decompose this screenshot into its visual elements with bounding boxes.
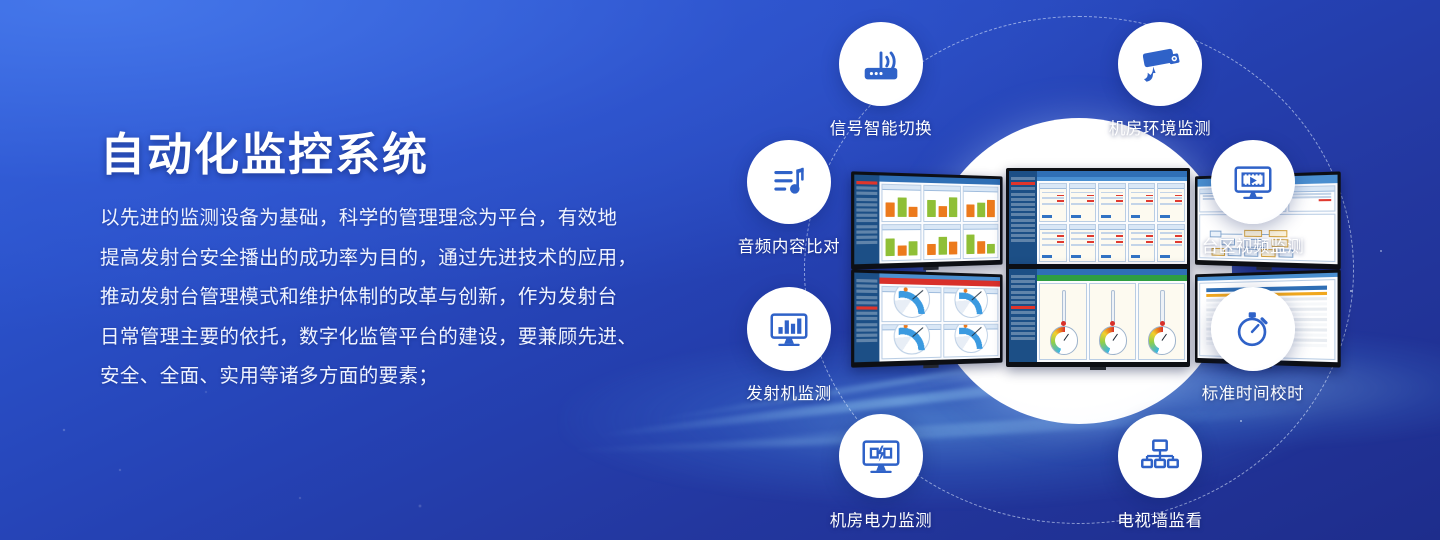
bar-chart-grid [880,182,1000,264]
feature-hub: 信号智能切换 机房环境监测 [700,0,1440,540]
hero-description: 以先进的监测设备为基础，科学的管理理念为平台，有效地 提高发射台安全播出的成功率… [100,203,700,393]
feature-node-room-power[interactable]: 机房电力监测 [818,414,944,531]
data-card-grid [1037,181,1187,264]
description-line: 日常管理主要的依托，数字化监管平台的建设，要兼顾先进、 [100,322,700,354]
monitor-stand [923,267,938,271]
monitor-bottom-center [1006,266,1190,367]
monitor-stand [923,365,938,369]
feature-node-tv-wall[interactable]: 电视墙监看 [1097,414,1223,531]
feature-node-transmitter[interactable]: 发射机监测 [726,287,852,404]
music-note-lines-icon [747,140,831,224]
feature-label: 机房电力监测 [818,507,944,531]
monitor-stand [1256,267,1271,271]
feature-label: 电视墙监看 [1097,507,1223,531]
router-wifi-icon [839,22,923,106]
feature-label: 标准时间校时 [1190,380,1316,404]
feature-node-area-video[interactable]: 台区视频监测 [1190,140,1316,257]
description-line: 安全、全面、实用等诸多方面的要素； [100,361,700,393]
app-sidebar [1009,269,1037,362]
monitor-battery-bolt-icon [839,414,923,498]
monitor-screen [854,175,1000,265]
page-title: 自动化监控系统 [100,128,700,181]
monitor-screen [854,273,1000,363]
feature-label: 台区视频监测 [1190,233,1316,257]
gauge-thermo-row [1037,281,1187,362]
description-line: 推动发射台管理模式和维护体制的改革与创新，作为发射台 [100,282,700,314]
monitor-screen [1009,269,1187,362]
org-chart-icon [1118,414,1202,498]
monitor-top-center [1006,168,1190,269]
monitor-bar-chart-icon [747,287,831,371]
stopwatch-icon [1211,287,1295,371]
cctv-camera-icon [1118,22,1202,106]
description-line: 提高发射台安全播出的成功率为目的，通过先进技术的应用， [100,243,700,275]
description-line: 以先进的监测设备为基础，科学的管理理念为平台，有效地 [100,203,700,235]
feature-node-signal-switch[interactable]: 信号智能切换 [818,22,944,139]
feature-label: 音频内容比对 [726,233,852,257]
app-sidebar [854,175,879,265]
feature-node-time-sync[interactable]: 标准时间校时 [1190,287,1316,404]
app-sidebar [854,273,879,363]
feature-node-room-environment[interactable]: 机房环境监测 [1097,22,1223,139]
feature-label: 机房环境监测 [1097,115,1223,139]
feature-label: 发射机监测 [726,380,852,404]
app-sidebar [1009,171,1037,264]
monitor-stand [1090,367,1106,370]
monitor-screen [1009,171,1187,264]
hero-copy: 自动化监控系统 以先进的监测设备为基础，科学的管理理念为平台，有效地 提高发射台… [100,128,700,401]
hero-banner: 自动化监控系统 以先进的监测设备为基础，科学的管理理念为平台，有效地 提高发射台… [0,0,1440,540]
arc-gauge-grid [880,284,1000,362]
monitor-top-left [851,171,1003,269]
monitor-bottom-left [851,269,1003,367]
feature-node-audio-compare[interactable]: 音频内容比对 [726,140,852,257]
feature-label: 信号智能切换 [818,115,944,139]
monitor-video-play-icon [1211,140,1295,224]
